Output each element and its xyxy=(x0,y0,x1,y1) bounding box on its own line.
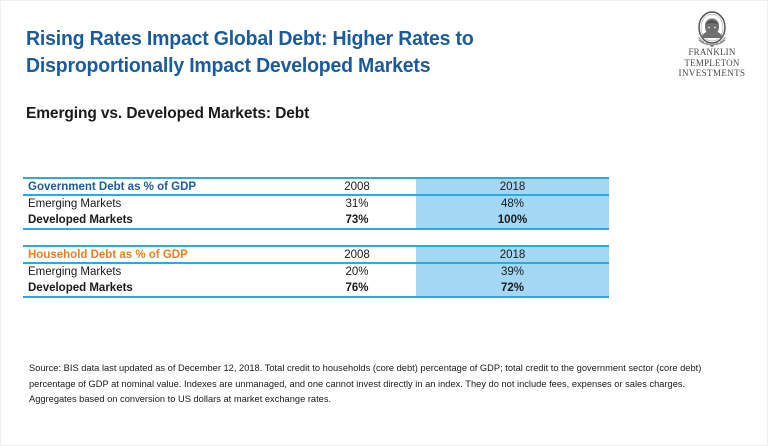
table-header-2018: 2018 xyxy=(416,249,609,261)
table-header-row: Household Debt as % of GDP 2008 2018 xyxy=(23,247,609,262)
table-rule-bottom xyxy=(23,296,609,298)
row-value-2008: 76% xyxy=(298,282,416,294)
table-header-2008: 2008 xyxy=(298,181,416,193)
table-rule-bottom xyxy=(23,228,609,230)
table-row: Developed Markets 73% 100% xyxy=(23,212,609,228)
row-value-2018: 48% xyxy=(416,198,609,210)
franklin-templeton-logo: FRANKLIN TEMPLETON INVESTMENTS xyxy=(669,11,755,73)
table-row: Developed Markets 76% 72% xyxy=(23,280,609,296)
logo-wordmark: FRANKLIN TEMPLETON INVESTMENTS xyxy=(669,47,755,79)
government-debt-table: Government Debt as % of GDP 2008 2018 Em… xyxy=(23,177,609,230)
row-value-2008: 20% xyxy=(298,266,416,278)
logo-wordmark-line-1: FRANKLIN TEMPLETON xyxy=(669,47,755,68)
page-title-line-2: Disproportionally Impact Developed Marke… xyxy=(26,52,596,79)
household-debt-table: Household Debt as % of GDP 2008 2018 Eme… xyxy=(23,245,609,298)
row-label: Emerging Markets xyxy=(23,198,298,210)
row-value-2008: 73% xyxy=(298,214,416,226)
table-header-label: Government Debt as % of GDP xyxy=(23,181,298,193)
slide: Rising Rates Impact Global Debt: Higher … xyxy=(0,0,768,446)
franklin-portrait-medallion-icon xyxy=(689,11,735,49)
page-title: Rising Rates Impact Global Debt: Higher … xyxy=(26,25,596,79)
row-label: Developed Markets xyxy=(23,282,298,294)
section-subtitle: Emerging vs. Developed Markets: Debt xyxy=(26,105,309,123)
row-value-2018: 72% xyxy=(416,282,609,294)
row-value-2018: 100% xyxy=(416,214,609,226)
row-label: Emerging Markets xyxy=(23,266,298,278)
row-value-2018: 39% xyxy=(416,266,609,278)
logo-wordmark-line-2: INVESTMENTS xyxy=(669,68,755,79)
row-value-2008: 31% xyxy=(298,198,416,210)
table-header-2008: 2008 xyxy=(298,249,416,261)
table-row: Emerging Markets 20% 39% xyxy=(23,264,609,280)
source-note: Source: BIS data last updated as of Dece… xyxy=(29,361,720,408)
page-title-line-1: Rising Rates Impact Global Debt: Higher … xyxy=(26,25,596,52)
table-header-row: Government Debt as % of GDP 2008 2018 xyxy=(23,179,609,194)
row-label: Developed Markets xyxy=(23,214,298,226)
table-header-2018: 2018 xyxy=(416,181,609,193)
table-header-label: Household Debt as % of GDP xyxy=(23,249,298,261)
table-row: Emerging Markets 31% 48% xyxy=(23,196,609,212)
